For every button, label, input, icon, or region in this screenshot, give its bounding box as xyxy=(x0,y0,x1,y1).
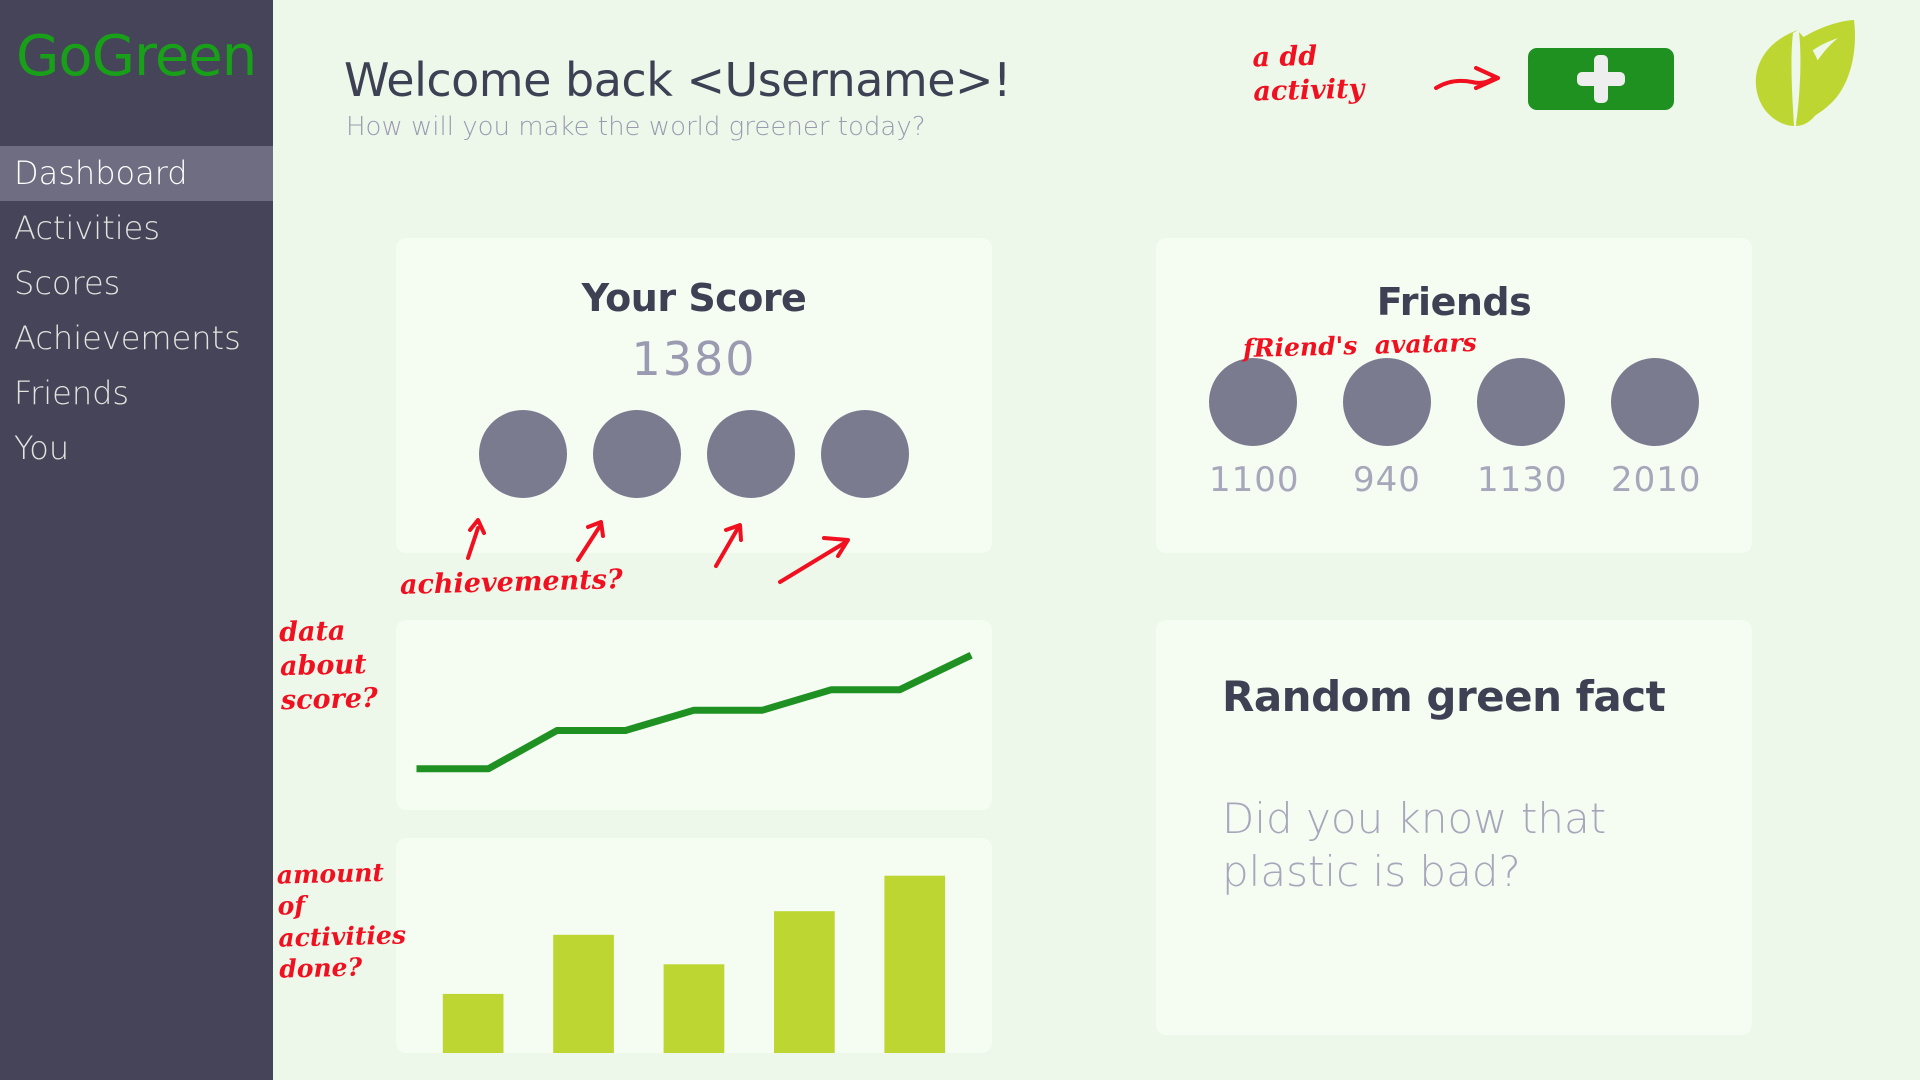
annotation-achievements: achievements? xyxy=(400,563,624,603)
friend-item[interactable]: 1100 xyxy=(1209,358,1297,500)
bar xyxy=(553,935,614,1053)
fact-card-body: Did you know that plastic is bad? xyxy=(1222,793,1672,899)
sidebar-item-label: Dashboard xyxy=(14,154,188,192)
leaf-logo-icon xyxy=(1730,8,1860,128)
annotation-add-activity: a dd activity xyxy=(1252,39,1365,109)
achievement-avatar[interactable] xyxy=(479,410,567,498)
sidebar-item-label: Scores xyxy=(14,264,120,302)
your-score-card: Your Score 1380 xyxy=(396,238,992,553)
page-subtitle: How will you make the world greener toda… xyxy=(346,112,926,142)
sidebar-item-activities[interactable]: Activities xyxy=(0,201,273,256)
bar xyxy=(884,876,945,1053)
achievement-avatar-row xyxy=(396,410,992,498)
sidebar-item-scores[interactable]: Scores xyxy=(0,256,273,311)
achievement-avatar[interactable] xyxy=(593,410,681,498)
annotation-data-about-score: data about score? xyxy=(279,614,378,718)
friend-score: 2010 xyxy=(1611,460,1699,500)
score-history-line-chart-card[interactable] xyxy=(396,620,992,810)
avatar xyxy=(1343,358,1431,446)
sidebar-item-you[interactable]: You xyxy=(0,421,273,476)
friend-item[interactable]: 2010 xyxy=(1611,358,1699,500)
friend-score: 940 xyxy=(1343,460,1431,500)
page-title: Welcome back <Username>! xyxy=(344,53,1011,107)
friends-card: Friends 1100 940 1130 2010 xyxy=(1156,238,1752,553)
bar xyxy=(443,994,504,1053)
app-brand-logo[interactable]: GoGreen xyxy=(16,24,256,89)
plus-icon xyxy=(1577,55,1625,103)
achievement-avatar[interactable] xyxy=(821,410,909,498)
friend-item[interactable]: 1130 xyxy=(1477,358,1565,500)
random-green-fact-card: Random green fact Did you know that plas… xyxy=(1156,620,1752,1035)
annotation-amount-activities: amount of activities done? xyxy=(276,856,407,984)
achievement-avatar[interactable] xyxy=(707,410,795,498)
sidebar-nav: Dashboard Activities Scores Achievements… xyxy=(0,146,273,476)
avatar xyxy=(1477,358,1565,446)
sidebar-item-dashboard[interactable]: Dashboard xyxy=(0,146,273,201)
score-card-title: Your Score xyxy=(396,276,992,320)
sidebar: GoGreen Dashboard Activities Scores Achi… xyxy=(0,0,273,1080)
score-value: 1380 xyxy=(396,332,992,386)
fact-card-title: Random green fact xyxy=(1222,672,1752,721)
activities-bar-chart-card[interactable] xyxy=(396,838,992,1053)
friends-card-title: Friends xyxy=(1156,280,1752,324)
friend-score: 1130 xyxy=(1477,460,1565,500)
bar xyxy=(774,911,835,1053)
sidebar-item-label: Activities xyxy=(14,209,160,247)
friend-item[interactable]: 940 xyxy=(1343,358,1431,500)
sidebar-item-label: Achievements xyxy=(14,319,241,357)
add-activity-button[interactable] xyxy=(1528,48,1674,110)
avatar xyxy=(1209,358,1297,446)
friends-avatar-row: 1100 940 1130 2010 xyxy=(1156,358,1752,500)
friend-score: 1100 xyxy=(1209,460,1297,500)
sidebar-item-friends[interactable]: Friends xyxy=(0,366,273,421)
sidebar-item-label: You xyxy=(14,429,69,467)
sidebar-item-achievements[interactable]: Achievements xyxy=(0,311,273,366)
activities-bar-chart xyxy=(396,838,992,1053)
score-line-chart xyxy=(396,620,992,810)
bar xyxy=(664,964,725,1053)
sidebar-item-label: Friends xyxy=(14,374,129,412)
avatar xyxy=(1611,358,1699,446)
